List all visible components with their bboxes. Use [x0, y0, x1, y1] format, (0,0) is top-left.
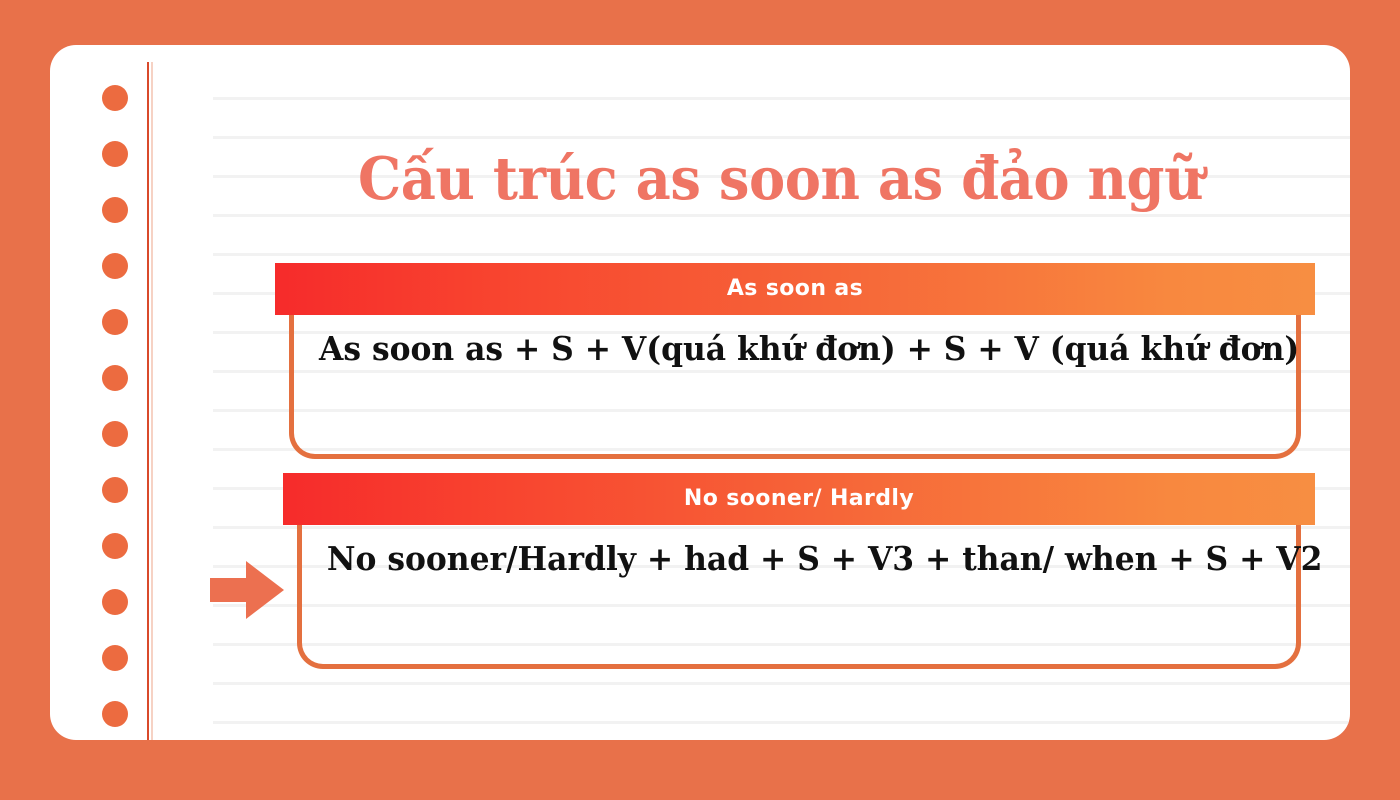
block-header-as-soon-as: As soon as: [275, 263, 1315, 315]
punch-hole-icon: [102, 421, 128, 447]
punch-hole-icon: [102, 309, 128, 335]
poster-canvas: Cấu trúc as soon as đảo ngữ As soon as A…: [0, 0, 1400, 800]
punch-hole-icon: [102, 589, 128, 615]
arrow-shaft: [210, 578, 250, 602]
punch-hole-icon: [102, 85, 128, 111]
formula-as-soon-as: As soon as + S + V(quá khứ đơn) + S + V …: [319, 327, 1271, 371]
punch-hole-icon: [102, 701, 128, 727]
notebook-paper-card: Cấu trúc as soon as đảo ngữ As soon as A…: [50, 45, 1350, 740]
structure-block-as-soon-as: As soon as As soon as + S + V(quá khứ đơ…: [275, 263, 1315, 459]
block-header-no-sooner-hardly: No sooner/ Hardly: [283, 473, 1315, 525]
punch-hole-icon: [102, 533, 128, 559]
punch-hole-icon: [102, 197, 128, 223]
structure-block-no-sooner-hardly: No sooner/ Hardly No sooner/Hardly + had…: [283, 473, 1315, 669]
punch-hole-icon: [102, 141, 128, 167]
arrow-head: [246, 561, 284, 619]
margin-rule-line-soft: [151, 62, 153, 740]
punch-hole-icon: [102, 645, 128, 671]
punch-hole-icon: [102, 477, 128, 503]
punch-hole-icon: [102, 253, 128, 279]
formula-no-sooner-hardly: No sooner/Hardly + had + S + V3 + than/ …: [327, 537, 1271, 581]
arrow-right-icon: [210, 561, 284, 619]
page-title: Cấu trúc as soon as đảo ngữ: [258, 143, 1302, 215]
punch-hole-strip: [102, 85, 142, 725]
punch-hole-icon: [102, 365, 128, 391]
block-body-no-sooner-hardly: No sooner/Hardly + had + S + V3 + than/ …: [297, 521, 1301, 669]
block-body-as-soon-as: As soon as + S + V(quá khứ đơn) + S + V …: [289, 311, 1301, 459]
margin-rule-line: [147, 62, 149, 740]
